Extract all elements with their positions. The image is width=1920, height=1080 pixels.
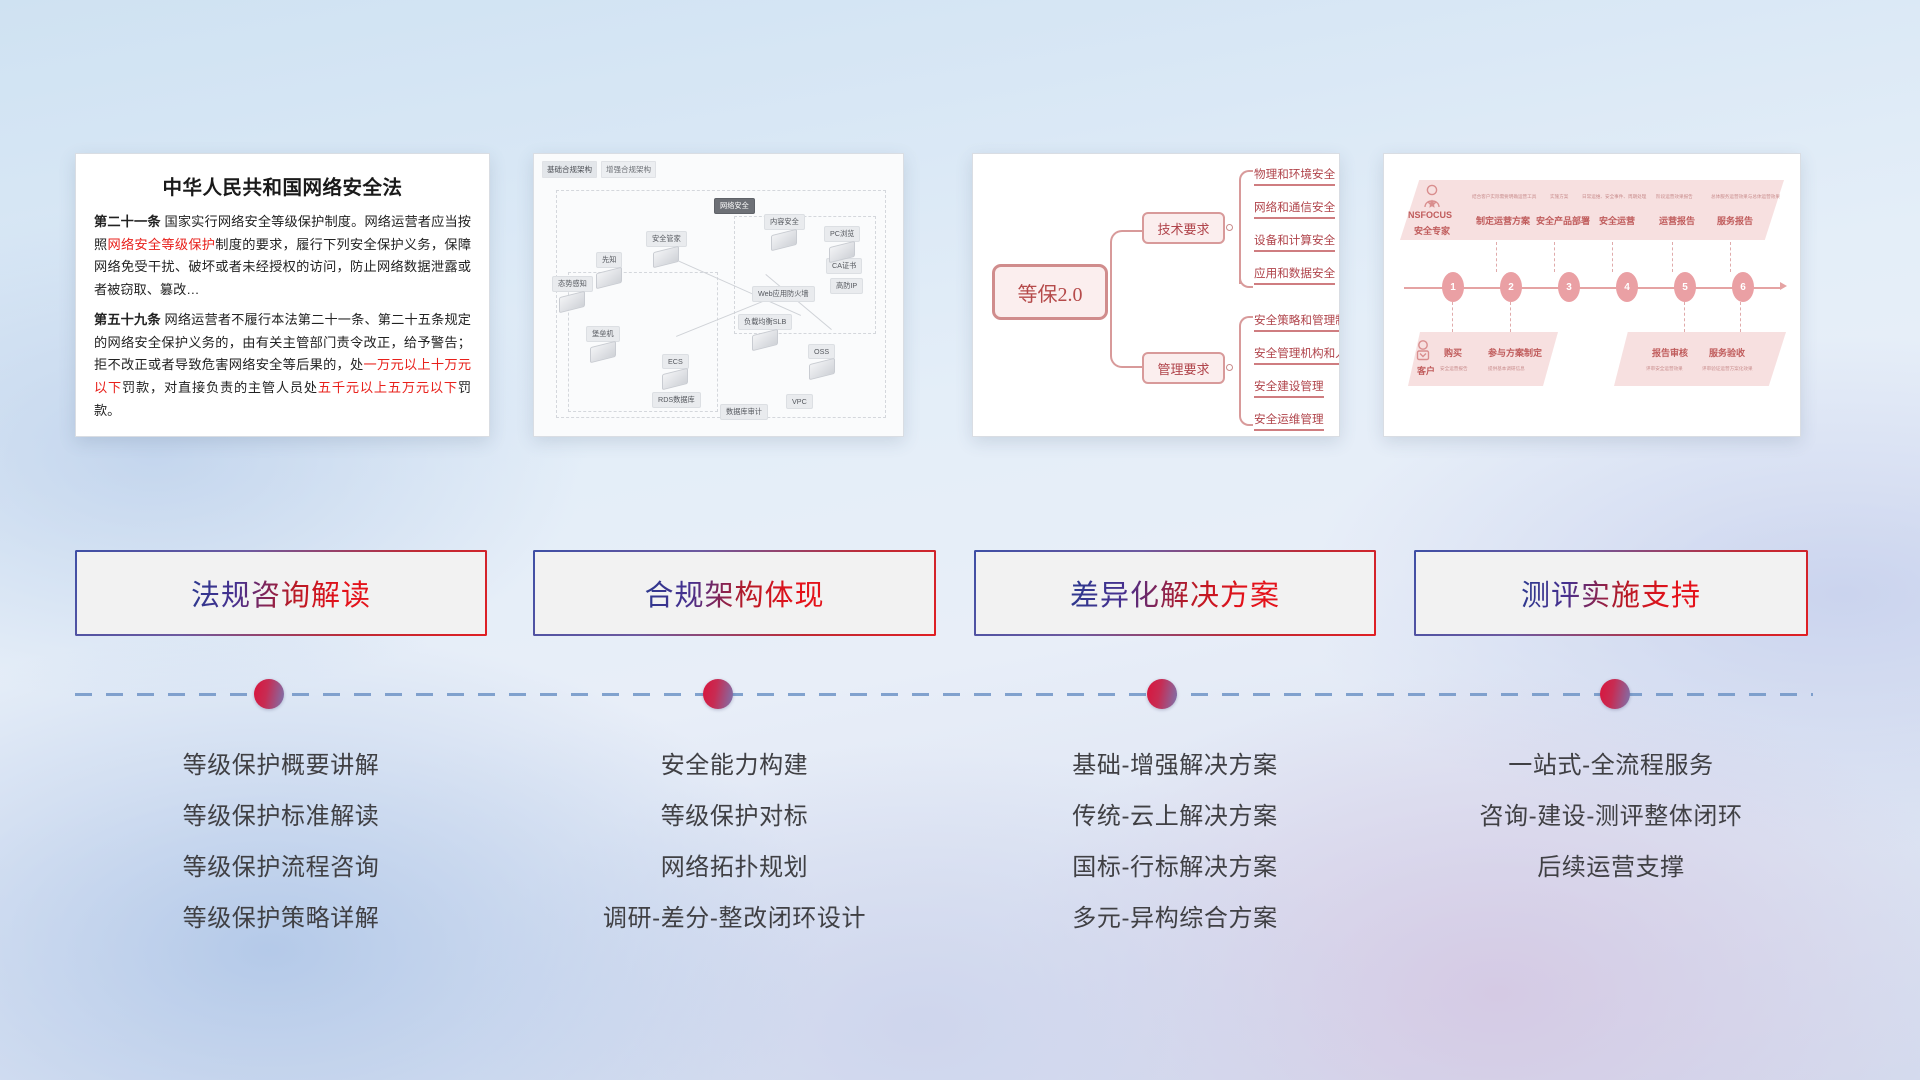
mindmap-leaf-physical: 物理和环境安全 [1254, 166, 1335, 186]
timeline-node-1: 1 [1442, 272, 1464, 302]
mindmap-leaf-org: 安全管理机构和人员 [1254, 345, 1340, 365]
article-21-label: 第二十一条 [94, 214, 161, 229]
architecture-tabs[interactable]: 基础合规架构 增强合规架构 [542, 161, 656, 178]
list-item: 传统-云上解决方案 [974, 791, 1376, 842]
connector-top-2 [1554, 242, 1555, 272]
preview-cards-row: 中华人民共和国网络安全法 第二十一条 国家实行网络安全等级保护制度。网络运营者应… [0, 0, 1920, 460]
step-label-3: 安全运营 [1599, 214, 1635, 227]
timeline-marker-4[interactable] [1600, 679, 1630, 709]
section-title-assessment-support[interactable]: 测评实施支持 [1414, 550, 1808, 636]
cube-icon [771, 229, 797, 251]
step-desc-1: 结合客户实际需要明确运营工具 [1472, 194, 1536, 200]
node-db-audit: 数据库审计 [720, 404, 768, 420]
node-pc-browse: PC浏览 [824, 226, 860, 260]
list-item: 安全能力构建 [533, 740, 936, 791]
card-cybersecurity-law[interactable]: 中华人民共和国网络安全法 第二十一条 国家实行网络安全等级保护制度。网络运营者应… [75, 153, 490, 437]
connector-top-4 [1672, 242, 1673, 272]
step-desc-5: 总体服务运营效果与总体运营效果 [1711, 194, 1780, 200]
step-desc-3: 日常运维、安全事件、周期处理 [1582, 194, 1646, 200]
list-item: 等级保护对标 [533, 791, 936, 842]
mindmap-root: 等保2.0 [992, 264, 1108, 320]
card-cloud-architecture[interactable]: 基础合规架构 增强合规架构 网络安全 安全管家 先知 态势感知 [533, 153, 904, 437]
cube-icon [590, 341, 616, 363]
node-slb: 负载均衡SLB [738, 314, 792, 348]
bottom-step-label-1: 购买 [1444, 346, 1462, 359]
nsfocus-customer-band-right [1614, 332, 1786, 386]
step-label-4: 运营报告 [1659, 214, 1695, 227]
node-vpc: VPC [786, 394, 813, 409]
cube-icon [662, 368, 688, 390]
timeline-node-3: 3 [1558, 272, 1580, 302]
timeline-dashed-line [75, 693, 1813, 696]
list-item: 等级保护标准解读 [75, 791, 487, 842]
timeline-marker-2[interactable] [703, 679, 733, 709]
bottom-step-label-4: 服务验收 [1709, 346, 1745, 359]
mindmap-collapse-dot-management[interactable] [1226, 364, 1233, 371]
list-item: 调研-差分-整改闭环设计 [533, 893, 936, 944]
section-title-label: 差异化解决方案 [1070, 572, 1280, 614]
mindmap-leaf-ops: 安全运维管理 [1254, 411, 1324, 431]
law-document: 中华人民共和国网络安全法 第二十一条 国家实行网络安全等级保护制度。网络运营者应… [76, 154, 489, 437]
connector-bottom-3 [1684, 302, 1685, 332]
list-item: 一站式-全流程服务 [1414, 740, 1808, 791]
node-xianzhi: 先知 [596, 252, 622, 286]
timeline-node-2: 2 [1500, 272, 1522, 302]
customer-avatar-icon [1414, 340, 1432, 362]
node-rds: RDS数据库 [652, 392, 701, 408]
timeline-marker-1[interactable] [254, 679, 284, 709]
connector-top-1 [1496, 242, 1497, 272]
section-title-label: 合规架构体现 [644, 572, 824, 614]
mindmap-spine-technical-lower [1239, 228, 1253, 288]
node-bastion-host: 堡垒机 [586, 326, 620, 360]
timeline-node-6: 6 [1732, 272, 1754, 302]
card-nsfocus-timeline[interactable]: NSFOCUS 安全专家 结合客户实际需要明确运营工具 制定运营方案 实施方案 … [1383, 153, 1801, 437]
bottom-step-desc-2: 提供基本调研信息 [1488, 366, 1525, 372]
nsfocus-expert-band [1400, 180, 1784, 240]
connector-bottom-2 [1510, 302, 1511, 332]
law-title: 中华人民共和国网络安全法 [94, 171, 471, 200]
mindmap-leaf-app-data: 应用和数据安全 [1254, 265, 1335, 285]
list-item: 等级保护流程咨询 [75, 842, 487, 893]
bottom-step-label-3: 报告审核 [1652, 346, 1688, 359]
timeline-node-4: 4 [1616, 272, 1638, 302]
bottom-step-desc-4: 评审验证运营方案化效果 [1702, 366, 1753, 372]
section-title-differentiated-solution[interactable]: 差异化解决方案 [974, 550, 1376, 636]
node-anti-ddos-ip: 高防IP [830, 278, 863, 294]
expert-avatar-icon [1422, 184, 1442, 208]
list-item: 等级保护策略详解 [75, 893, 487, 944]
mindmap-branch-management: 管理要求 [1142, 352, 1225, 384]
tab-enhanced-architecture[interactable]: 增强合规架构 [601, 161, 656, 178]
article-59-text-2: 罚款，对直接负责的主管人员处 [122, 380, 318, 395]
connector-top-3 [1612, 242, 1613, 272]
node-ecs: ECS [662, 354, 689, 387]
law-article-59: 第五十九条 网络运营者不履行本法第二十一条、第二十五条规定的网络安全保护义务的，… [94, 309, 471, 423]
node-waf: Web应用防火墙 [752, 286, 815, 302]
list-item: 基础-增强解决方案 [974, 740, 1376, 791]
mindmap-spine-management [1239, 316, 1253, 380]
nsfocus-brand: NSFOCUS [1408, 210, 1452, 220]
cube-icon [653, 246, 679, 268]
step-label-5: 服务报告 [1717, 214, 1753, 227]
connector-top-5 [1730, 242, 1731, 272]
cube-icon [596, 267, 622, 289]
node-content-security: 内容安全 [764, 214, 805, 248]
list-item: 咨询-建设-测评整体闭环 [1414, 791, 1808, 842]
nsfocus-brand-sub: 安全专家 [1414, 224, 1450, 237]
article-59-highlight-2: 五千元以上五万元以下 [318, 380, 458, 395]
mindmap-branch-technical: 技术要求 [1142, 212, 1225, 244]
list-item: 后续运营支撑 [1414, 842, 1808, 893]
card-mindmap-dengbao[interactable]: 等保2.0 技术要求 管理要求 物理和环境安全 网络和通信安全 设备和计算安全 … [972, 153, 1340, 437]
cube-icon [559, 291, 585, 313]
cube-icon [829, 241, 855, 263]
nsfocus-diagram: NSFOCUS 安全专家 结合客户实际需要明确运营工具 制定运营方案 实施方案 … [1384, 154, 1800, 436]
article-59-label: 第五十九条 [94, 312, 161, 327]
mindmap-connector-root-tech [1110, 230, 1142, 292]
mindmap-leaf-network: 网络和通信安全 [1254, 199, 1335, 219]
mindmap-leaf-device: 设备和计算安全 [1254, 232, 1335, 252]
cube-icon [752, 329, 778, 351]
customer-label: 客户 [1417, 364, 1435, 377]
connector-bottom-1 [1452, 302, 1453, 332]
mindmap-collapse-dot-technical[interactable] [1226, 224, 1233, 231]
bottom-step-label-2: 参与方案制定 [1488, 346, 1542, 359]
feature-list-assessment-support: 一站式-全流程服务 咨询-建设-测评整体闭环 后续运营支撑 [1414, 740, 1808, 893]
list-item: 多元-异构综合方案 [974, 893, 1376, 944]
section-title-compliance-architecture[interactable]: 合规架构体现 [533, 550, 936, 636]
step-desc-2: 实施方案 [1550, 194, 1568, 200]
section-title-label: 法规咨询解读 [191, 572, 371, 614]
node-network-security: 网络安全 [714, 198, 755, 214]
timeline-arrow-icon [1780, 282, 1787, 290]
law-article-21: 第二十一条 国家实行网络安全等级保护制度。网络运营者应当按照网络安全等级保护制度… [94, 211, 471, 302]
timeline-node-5: 5 [1674, 272, 1696, 302]
feature-list-regulation-consulting: 等级保护概要讲解 等级保护标准解读 等级保护流程咨询 等级保护策略详解 [75, 740, 487, 944]
bottom-step-desc-3: 评审安全运营效果 [1646, 366, 1683, 372]
article-21-highlight: 网络安全等级保护 [107, 237, 215, 252]
node-security-butler: 安全管家 [646, 231, 687, 265]
mindmap-connector-root-mgmt [1110, 292, 1142, 368]
mindmap-leaf-build: 安全建设管理 [1254, 378, 1324, 398]
mindmap-spine-management-lower [1239, 378, 1253, 426]
list-item: 网络拓扑规划 [533, 842, 936, 893]
cube-icon [809, 358, 835, 380]
node-oss: OSS [808, 344, 835, 377]
bottom-step-desc-1: 安全运营报告 [1440, 366, 1468, 372]
list-item: 等级保护概要讲解 [75, 740, 487, 791]
feature-list-compliance-architecture: 安全能力构建 等级保护对标 网络拓扑规划 调研-差分-整改闭环设计 [533, 740, 936, 944]
section-title-label: 测评实施支持 [1521, 572, 1701, 614]
section-title-regulation-consulting[interactable]: 法规咨询解读 [75, 550, 487, 636]
step-label-1: 制定运营方案 [1476, 214, 1530, 227]
step-label-2: 安全产品部署 [1536, 214, 1590, 227]
node-situational-awareness: 态势感知 [552, 276, 593, 310]
connector-bottom-4 [1740, 302, 1741, 332]
mindmap: 等保2.0 技术要求 管理要求 物理和环境安全 网络和通信安全 设备和计算安全 … [973, 154, 1339, 436]
list-item: 国标-行标解决方案 [974, 842, 1376, 893]
architecture-diagram: 基础合规架构 增强合规架构 网络安全 安全管家 先知 态势感知 [534, 154, 903, 436]
mindmap-leaf-policy: 安全策略和管理制度 [1254, 312, 1340, 332]
timeline-marker-3[interactable] [1147, 679, 1177, 709]
step-desc-4: 阶段运营效果报告 [1656, 194, 1693, 200]
feature-list-differentiated-solution: 基础-增强解决方案 传统-云上解决方案 国标-行标解决方案 多元-异构综合方案 [974, 740, 1376, 944]
tab-basic-architecture[interactable]: 基础合规架构 [542, 161, 597, 178]
